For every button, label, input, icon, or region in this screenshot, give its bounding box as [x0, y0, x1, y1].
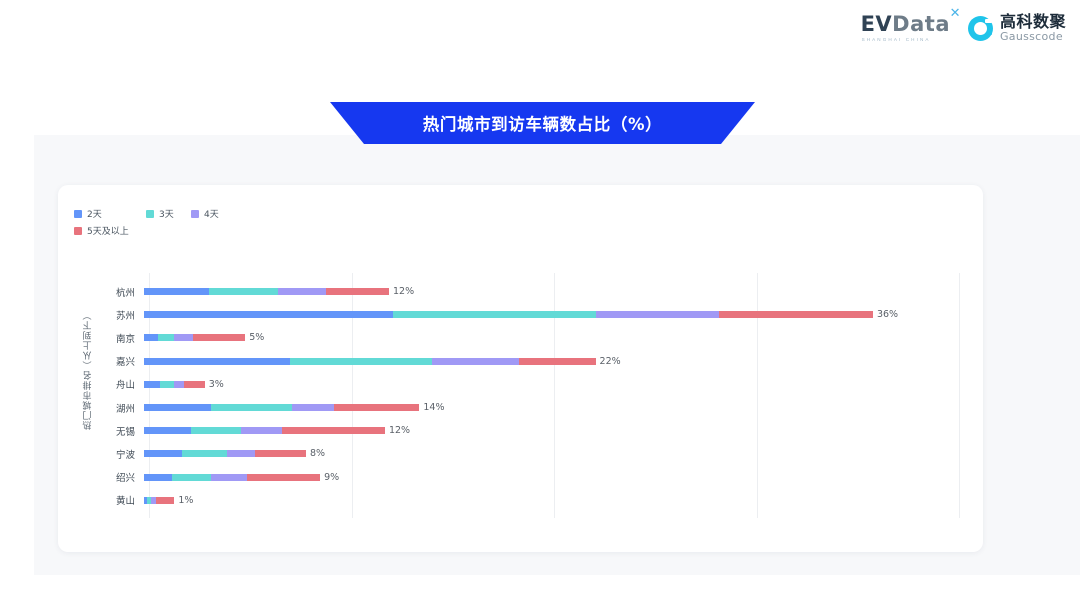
chart-row: 杭州12%	[102, 280, 972, 303]
bar-value-label: 36%	[877, 309, 898, 320]
bar-value-label: 1%	[178, 495, 193, 506]
stacked-bar[interactable]	[144, 358, 596, 365]
bar-segment-2天[interactable]	[144, 427, 191, 434]
evdata-wordmark: EVData✕	[861, 14, 950, 35]
bar-value-label: 12%	[389, 425, 410, 436]
bar-segment-5天及以上[interactable]	[519, 358, 596, 365]
bar-segment-2天[interactable]	[144, 450, 182, 457]
stacked-bar[interactable]	[144, 474, 320, 481]
chart-row: 苏州36%	[102, 303, 972, 326]
stacked-bar[interactable]	[144, 427, 385, 434]
chart-row: 舟山3%	[102, 373, 972, 396]
bar-container: 1%	[144, 489, 972, 512]
gausscode-cn-name: 高科数聚	[1000, 14, 1066, 31]
bar-segment-5天及以上[interactable]	[247, 474, 320, 481]
bar-container: 12%	[144, 419, 972, 442]
bar-container: 12%	[144, 280, 972, 303]
bar-value-label: 3%	[209, 379, 224, 390]
bar-segment-5天及以上[interactable]	[193, 334, 246, 341]
bar-segment-2天[interactable]	[144, 358, 290, 365]
bar-container: 14%	[144, 396, 972, 419]
stacked-bar[interactable]	[144, 497, 174, 504]
bar-segment-3天[interactable]	[160, 381, 174, 388]
y-axis-tick-label: 绍兴	[102, 470, 144, 484]
bar-segment-5天及以上[interactable]	[326, 288, 389, 295]
gausscode-logo: 高科数聚 Gausscode	[968, 14, 1066, 42]
chart-row: 湖州14%	[102, 396, 972, 419]
evdata-logo: EVData✕ SHANGHAI CHINA	[861, 14, 950, 43]
y-axis-tick-label: 杭州	[102, 285, 144, 299]
page-title: 热门城市到访车辆数占比（%）	[423, 111, 662, 135]
chart-bar-rows: 杭州12%苏州36%南京5%嘉兴22%舟山3%湖州14%无锡12%宁波8%绍兴9…	[102, 280, 972, 512]
gausscode-mark-icon	[968, 16, 993, 41]
bar-value-label: 14%	[423, 402, 444, 413]
evdata-ev-text: EV	[861, 12, 893, 36]
bar-value-label: 22%	[600, 356, 621, 367]
bar-segment-5天及以上[interactable]	[184, 381, 204, 388]
bar-value-label: 9%	[324, 472, 339, 483]
bar-segment-5天及以上[interactable]	[719, 311, 873, 318]
bar-segment-3天[interactable]	[393, 311, 596, 318]
bar-segment-4天[interactable]	[432, 358, 519, 365]
bar-segment-4天[interactable]	[241, 427, 282, 434]
bar-segment-4天[interactable]	[596, 311, 720, 318]
gausscode-en-name: Gausscode	[1000, 31, 1066, 43]
bar-segment-3天[interactable]	[211, 404, 292, 411]
bar-segment-4天[interactable]	[174, 381, 184, 388]
bar-container: 36%	[144, 303, 972, 326]
bar-segment-3天[interactable]	[182, 450, 227, 457]
bar-segment-5天及以上[interactable]	[334, 404, 419, 411]
chart-plot-area: 热门城市排名（从上到下） 杭州12%苏州36%南京5%嘉兴22%舟山3%湖州14…	[58, 185, 983, 552]
bar-container: 8%	[144, 442, 972, 465]
stacked-bar[interactable]	[144, 381, 205, 388]
bar-segment-4天[interactable]	[174, 334, 192, 341]
chart-row: 无锡12%	[102, 419, 972, 442]
y-axis-title: 热门城市排名（从上到下）	[80, 285, 96, 455]
gausscode-text: 高科数聚 Gausscode	[1000, 14, 1066, 42]
bar-container: 9%	[144, 466, 972, 489]
y-axis-tick-label: 舟山	[102, 377, 144, 391]
chart-row: 南京5%	[102, 326, 972, 349]
bar-container: 3%	[144, 373, 972, 396]
bar-segment-4天[interactable]	[278, 288, 327, 295]
bar-container: 5%	[144, 326, 972, 349]
stacked-bar[interactable]	[144, 334, 245, 341]
stacked-bar[interactable]	[144, 450, 306, 457]
bar-value-label: 5%	[249, 332, 264, 343]
y-axis-tick-label: 苏州	[102, 308, 144, 322]
bar-segment-3天[interactable]	[172, 474, 210, 481]
evdata-data-text: Data	[892, 12, 950, 36]
stacked-bar[interactable]	[144, 311, 873, 318]
bar-segment-2天[interactable]	[144, 334, 158, 341]
bar-segment-2天[interactable]	[144, 288, 209, 295]
bar-segment-2天[interactable]	[144, 311, 393, 318]
bar-segment-5天及以上[interactable]	[156, 497, 174, 504]
bar-segment-5天及以上[interactable]	[282, 427, 385, 434]
stacked-bar[interactable]	[144, 288, 389, 295]
chart-title-banner: 热门城市到访车辆数占比（%）	[330, 102, 755, 144]
bar-container: 22%	[144, 350, 972, 373]
evdata-subtitle: SHANGHAI CHINA	[862, 38, 931, 43]
y-axis-tick-label: 嘉兴	[102, 354, 144, 368]
bar-value-label: 8%	[310, 448, 325, 459]
bar-segment-2天[interactable]	[144, 474, 172, 481]
header-logo-bar: EVData✕ SHANGHAI CHINA 高科数聚 Gausscode	[0, 0, 1080, 56]
bar-segment-4天[interactable]	[211, 474, 247, 481]
chart-row: 黄山1%	[102, 489, 972, 512]
bar-segment-3天[interactable]	[191, 427, 242, 434]
bar-segment-4天[interactable]	[292, 404, 335, 411]
y-axis-tick-label: 南京	[102, 331, 144, 345]
evdata-x-icon: ✕	[950, 7, 961, 20]
y-axis-tick-label: 黄山	[102, 493, 144, 507]
y-axis-tick-label: 湖州	[102, 401, 144, 415]
y-axis-tick-label: 无锡	[102, 424, 144, 438]
chart-row: 绍兴9%	[102, 466, 972, 489]
bar-segment-4天[interactable]	[227, 450, 255, 457]
bar-segment-3天[interactable]	[290, 358, 432, 365]
stacked-bar[interactable]	[144, 404, 419, 411]
bar-segment-3天[interactable]	[158, 334, 174, 341]
bar-segment-3天[interactable]	[209, 288, 278, 295]
y-axis-tick-label: 宁波	[102, 447, 144, 461]
chart-row: 嘉兴22%	[102, 350, 972, 373]
bar-value-label: 12%	[393, 286, 414, 297]
bar-segment-2天[interactable]	[144, 404, 211, 411]
bar-segment-5天及以上[interactable]	[255, 450, 306, 457]
chart-row: 宁波8%	[102, 442, 972, 465]
bar-segment-2天[interactable]	[144, 381, 160, 388]
chart-card: 2天3天4天5天及以上 热门城市排名（从上到下） 杭州12%苏州36%南京5%嘉…	[58, 185, 983, 552]
